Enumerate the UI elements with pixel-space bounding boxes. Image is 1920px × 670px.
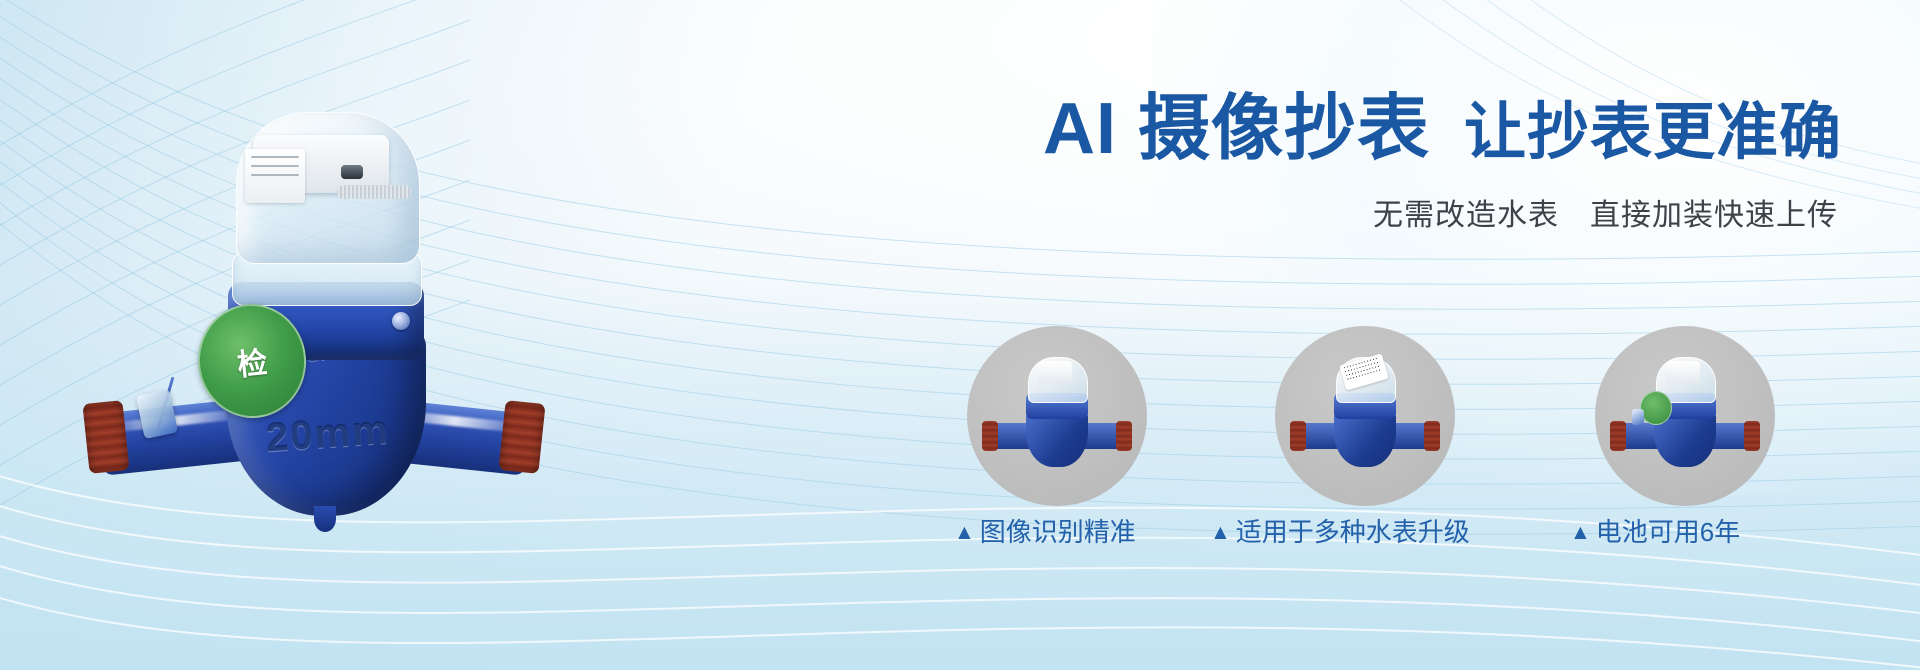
mini-seal-lock-icon <box>1632 409 1644 425</box>
mini-cap-right <box>1424 421 1440 451</box>
dome-spec-label <box>245 149 305 203</box>
mini-cap-right <box>1116 421 1132 451</box>
feature-caption-2: ▲适用于多种水表升级 <box>1210 512 1470 549</box>
feature-thumb-1 <box>962 326 1152 506</box>
triangle-bullet-icon: ▲ <box>1210 521 1231 544</box>
mini-module <box>1038 361 1072 383</box>
thumb-circle-2 <box>1275 326 1455 506</box>
feature-thumb-3 <box>1590 326 1780 506</box>
mini-cap-left <box>1610 421 1626 451</box>
product-size-emboss: 20mm <box>265 408 398 462</box>
headline-secondary: 让抄表更准确 <box>1464 100 1842 165</box>
thumb-circle-3 <box>1595 326 1775 506</box>
mini-body <box>1334 411 1396 467</box>
mini-cap-left <box>1290 421 1306 451</box>
mini-body <box>1026 411 1088 467</box>
hero-product-image: NSF 20mm 检 <box>78 76 548 506</box>
mini-cap-right <box>1744 421 1760 451</box>
subheadline: 无需改造水表 直接加装快速上传 <box>580 190 1900 234</box>
triangle-bullet-icon: ▲ <box>954 521 975 544</box>
certification-sticker-text: 检 <box>235 338 269 385</box>
promo-banner: NSF 20mm 检 AI 摄像抄表 让抄表更准确 无需改造水表 直接加装快速上… <box>0 0 1920 670</box>
triangle-bullet-icon: ▲ <box>1570 521 1591 544</box>
mini-meter-2 <box>1290 357 1440 475</box>
mini-module <box>1666 361 1700 383</box>
mini-meter-3 <box>1610 357 1760 475</box>
feature-thumb-2 <box>1270 326 1460 506</box>
product-clear-dome <box>236 112 420 264</box>
feature-caption-3-label: 电池可用6年 <box>1596 517 1740 547</box>
product-thread-cap-left <box>82 400 129 474</box>
product-drain-plug <box>314 506 336 532</box>
mini-certification-sticker <box>1640 391 1672 425</box>
camera-lens-icon <box>341 165 363 179</box>
headline: AI 摄像抄表 让抄表更准确 <box>580 92 1900 168</box>
collar-screw-icon <box>392 312 410 330</box>
feature-caption-2-label: 适用于多种水表升级 <box>1236 517 1470 547</box>
product-thread-cap-right <box>498 400 545 474</box>
thumb-circle-1 <box>967 326 1147 506</box>
feature-caption-1: ▲图像识别精准 <box>954 512 1136 549</box>
mini-meter-1 <box>982 357 1132 475</box>
feature-caption-1-label: 图像识别精准 <box>980 517 1136 547</box>
dome-coil <box>337 185 411 199</box>
copy-block: AI 摄像抄表 让抄表更准确 无需改造水表 直接加装快速上传 <box>580 92 1900 234</box>
feature-caption-3: ▲电池可用6年 <box>1570 512 1740 549</box>
mini-cap-left <box>982 421 998 451</box>
headline-primary: AI 摄像抄表 <box>1043 92 1430 168</box>
